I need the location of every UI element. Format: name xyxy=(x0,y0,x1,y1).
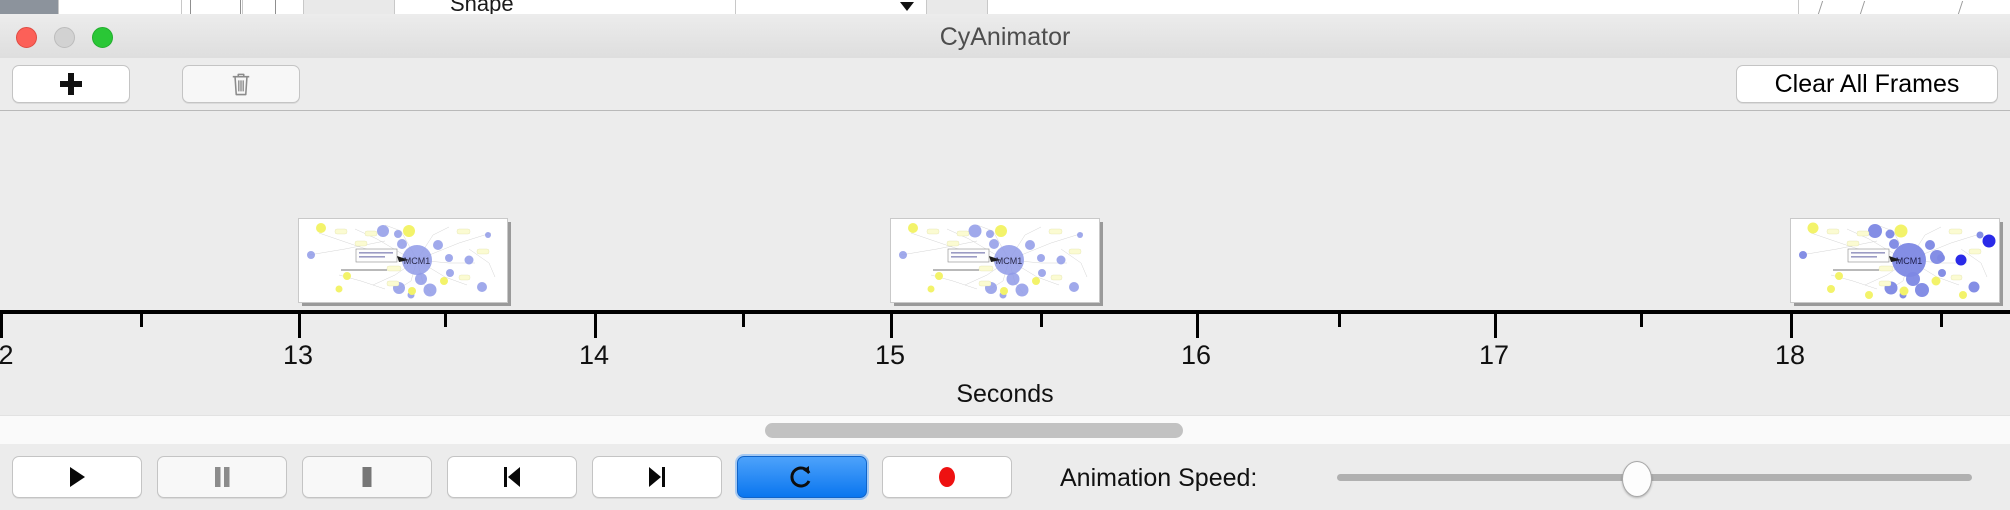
record-button[interactable] xyxy=(882,456,1012,498)
stop-button[interactable] xyxy=(302,456,432,498)
axis-tick-minor xyxy=(1640,314,1643,327)
axis-tick-label: 17 xyxy=(1479,340,1509,371)
frame-thumbnail[interactable]: MCM1 xyxy=(890,218,1103,306)
bg-chunk xyxy=(927,0,988,14)
loop-icon xyxy=(790,464,814,490)
axis-tick-label: 2 xyxy=(0,340,14,371)
background-window-strip: Shape xyxy=(0,0,2010,15)
loop-button[interactable] xyxy=(737,456,867,498)
delete-frame-button[interactable] xyxy=(182,65,300,103)
animation-speed-slider[interactable] xyxy=(1337,474,1972,481)
axis-title: Seconds xyxy=(0,380,2010,409)
axis-tick-label: 18 xyxy=(1775,340,1805,371)
bg-chunk xyxy=(395,0,736,14)
axis-tick-minor xyxy=(140,314,143,327)
axis-tick-minor xyxy=(1338,314,1341,327)
axis-tick-minor xyxy=(742,314,745,327)
record-icon xyxy=(935,464,959,490)
frame-thumbnail[interactable]: MCM1 xyxy=(298,218,511,306)
background-shape-label: Shape xyxy=(450,0,514,15)
pause-button[interactable] xyxy=(157,456,287,498)
axis-tick-minor xyxy=(1940,314,1943,327)
bg-chunk xyxy=(736,0,927,14)
bg-chunk xyxy=(0,0,59,14)
clear-all-frames-button[interactable]: Clear All Frames xyxy=(1736,65,1998,103)
play-button[interactable] xyxy=(12,456,142,498)
skip-forward-icon xyxy=(645,465,669,489)
svg-text:MCM1: MCM1 xyxy=(404,256,431,266)
frame-image: MCM1 xyxy=(890,218,1100,303)
axis-tick-major xyxy=(890,314,893,338)
title-bar: CyAnimator xyxy=(0,14,2010,59)
axis-tick-major xyxy=(1494,314,1497,338)
timeline-axis[interactable]: 2 13 14 15 16 17 18 Seconds xyxy=(0,308,2010,410)
frame-toolbar: Clear All Frames xyxy=(0,58,2010,111)
frame-thumbnail[interactable]: MCM1 xyxy=(1790,218,2003,306)
axis-tick-minor xyxy=(1040,314,1043,327)
svg-text:MCM1: MCM1 xyxy=(1896,256,1923,266)
bg-chunk xyxy=(1799,0,2010,14)
axis-tick-label: 15 xyxy=(875,340,905,371)
window-title: CyAnimator xyxy=(0,23,2010,52)
timeline-scrollbar[interactable] xyxy=(0,415,2010,445)
animation-speed-label: Animation Speed: xyxy=(1060,464,1257,493)
pause-icon xyxy=(212,465,232,489)
frame-image: MCM1 xyxy=(1790,218,2000,303)
axis-tick-label: 16 xyxy=(1181,340,1211,371)
trash-icon xyxy=(230,71,252,97)
bg-chunk xyxy=(304,0,395,14)
stop-icon xyxy=(357,465,377,489)
axis-tick-major xyxy=(0,314,3,338)
plus-icon xyxy=(60,73,82,95)
axis-tick-major xyxy=(594,314,597,338)
bg-chunk xyxy=(988,0,1799,14)
animation-speed-thumb[interactable] xyxy=(1622,461,1652,497)
cyanimator-window: Shape CyAnimator Clear All Frames xyxy=(0,0,2010,510)
svg-text:MCM1: MCM1 xyxy=(996,256,1023,266)
axis-tick-major xyxy=(298,314,301,338)
skip-start-button[interactable] xyxy=(447,456,577,498)
bg-chunk xyxy=(182,0,243,14)
bg-chunk xyxy=(59,0,182,14)
axis-line xyxy=(0,310,2010,314)
axis-tick-label: 13 xyxy=(283,340,313,371)
playback-bar: Animation Speed: xyxy=(0,444,2010,510)
frame-strip[interactable]: MCM1 xyxy=(0,111,2010,309)
scrollbar-thumb[interactable] xyxy=(765,423,1183,438)
bg-chunk xyxy=(243,0,304,14)
play-icon xyxy=(66,465,88,489)
bg-caret-icon xyxy=(900,2,914,11)
frame-image: MCM1 xyxy=(298,218,508,303)
add-frame-button[interactable] xyxy=(12,65,130,103)
skip-end-button[interactable] xyxy=(592,456,722,498)
axis-tick-minor xyxy=(444,314,447,327)
axis-tick-major xyxy=(1196,314,1199,338)
skip-back-icon xyxy=(500,465,524,489)
axis-tick-major xyxy=(1790,314,1793,338)
axis-tick-label: 14 xyxy=(579,340,609,371)
